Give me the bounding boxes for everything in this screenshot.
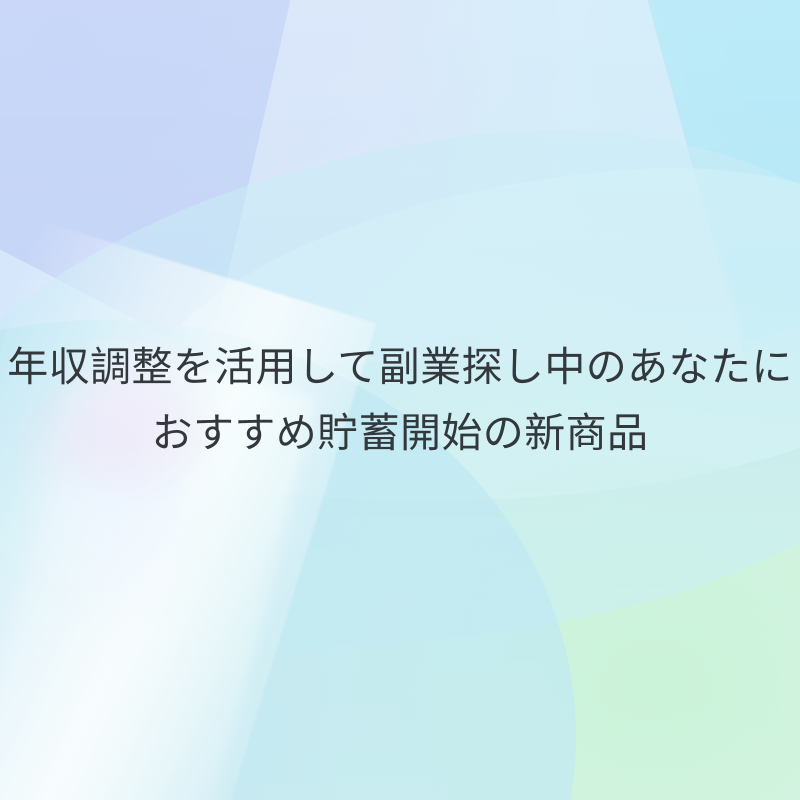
page-title: 年収調整を活用して副業探し中のあなたにおすすめ貯蓄開始の新商品 <box>0 334 800 467</box>
headline-container: 年収調整を活用して副業探し中のあなたにおすすめ貯蓄開始の新商品 <box>0 0 800 800</box>
title-card-canvas: 年収調整を活用して副業探し中のあなたにおすすめ貯蓄開始の新商品 <box>0 0 800 800</box>
